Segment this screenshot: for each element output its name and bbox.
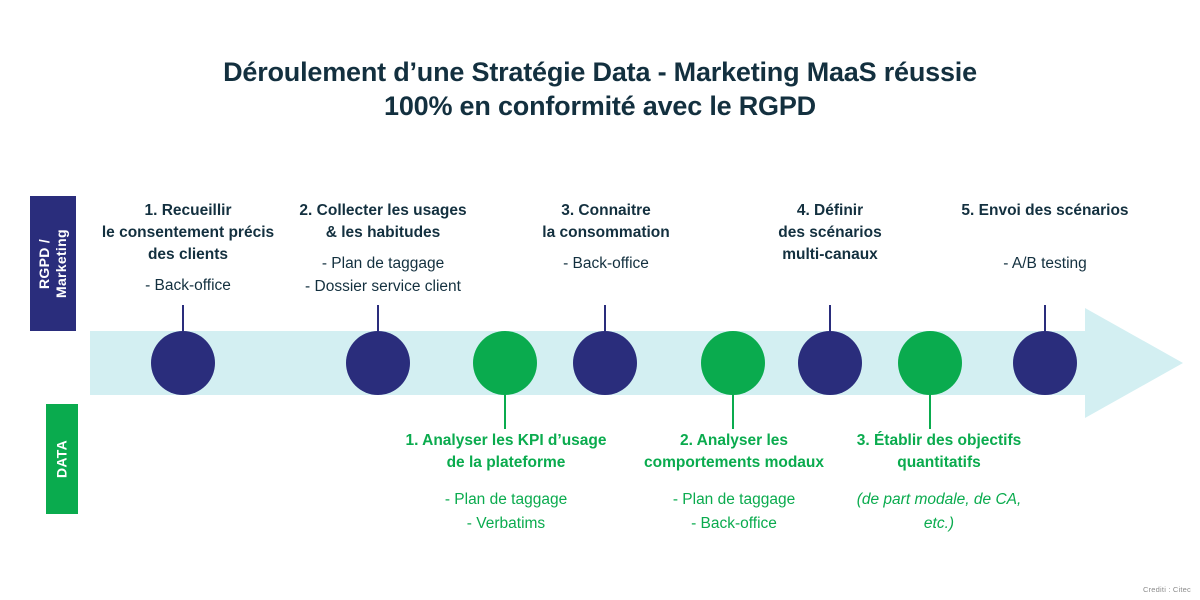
timeline-node-1-blue[interactable] bbox=[151, 331, 215, 395]
data-step-1-detail-line-2: - Verbatims bbox=[390, 512, 622, 536]
data-step-1-heading: 1. Analyser les KPI d’usagede la platefo… bbox=[390, 430, 622, 474]
side-label-data: DATA bbox=[46, 404, 78, 514]
data-step-2-heading-line-1: 2. Analyser les bbox=[630, 430, 838, 452]
side-label-rgpd-text: RGPD /Marketing bbox=[36, 229, 70, 298]
data-step-3-heading: 3. Établir des objectifsquantitatifs bbox=[840, 430, 1038, 474]
timeline-connector-3 bbox=[504, 395, 506, 429]
rgpd-step-1-heading-line-1: 1. Recueillir bbox=[78, 200, 298, 222]
timeline-node-7-green[interactable] bbox=[898, 331, 962, 395]
rgpd-step-2-details: - Plan de taggage- Dossier service clien… bbox=[272, 252, 494, 298]
timeline-node-2-blue[interactable] bbox=[346, 331, 410, 395]
timeline-node-6-blue[interactable] bbox=[798, 331, 862, 395]
timeline-connector-4 bbox=[604, 305, 606, 331]
rgpd-step-5: 5. Envoi des scénarios - A/B testing bbox=[930, 200, 1160, 275]
data-step-3-heading-line-1: 3. Établir des objectifs bbox=[840, 430, 1038, 452]
rgpd-step-3-detail-line-1: - Back-office bbox=[500, 252, 712, 275]
rgpd-step-2-heading: 2. Collecter les usages& les habitudes bbox=[272, 200, 494, 244]
data-step-1-heading-line-1: 1. Analyser les KPI d’usage bbox=[390, 430, 622, 452]
rgpd-step-2-detail-line-2: - Dossier service client bbox=[272, 275, 494, 298]
rgpd-step-1-heading-line-2: le consentement précis bbox=[78, 222, 298, 244]
timeline-node-4-blue[interactable] bbox=[573, 331, 637, 395]
rgpd-step-5-detail-line-1: - A/B testing bbox=[930, 252, 1160, 275]
side-label-data-text: DATA bbox=[54, 440, 71, 478]
data-step-2-detail-line-2: - Back-office bbox=[630, 512, 838, 536]
rgpd-step-5-heading-line-1: 5. Envoi des scénarios bbox=[930, 200, 1160, 222]
rgpd-step-5-details: - A/B testing bbox=[930, 252, 1160, 275]
data-step-3-heading-line-2: quantitatifs bbox=[840, 452, 1038, 474]
infographic-canvas: Déroulement d’une Stratégie Data - Marke… bbox=[0, 0, 1200, 600]
timeline-connector-5 bbox=[732, 395, 734, 429]
rgpd-step-3-heading: 3. Connaitrela consommation bbox=[500, 200, 712, 244]
data-step-2-detail-line-1: - Plan de taggage bbox=[630, 488, 838, 512]
title-line-1: Déroulement d’une Stratégie Data - Marke… bbox=[223, 57, 977, 87]
rgpd-step-2-heading-line-1: 2. Collecter les usages bbox=[272, 200, 494, 222]
rgpd-step-4-heading-line-1: 4. Définir bbox=[730, 200, 930, 222]
page-title: Déroulement d’une Stratégie Data - Marke… bbox=[0, 55, 1200, 123]
timeline-connector-1 bbox=[182, 305, 184, 331]
data-step-3: 3. Établir des objectifsquantitatifs (de… bbox=[840, 430, 1038, 536]
data-step-1: 1. Analyser les KPI d’usagede la platefo… bbox=[390, 430, 622, 536]
rgpd-step-4-heading-line-2: des scénarios bbox=[730, 222, 930, 244]
data-step-2-heading: 2. Analyser lescomportements modaux bbox=[630, 430, 838, 474]
timeline-connector-2 bbox=[377, 305, 379, 331]
timeline-node-8-blue[interactable] bbox=[1013, 331, 1077, 395]
data-step-3-detail-line-1: (de part modale, de CA, bbox=[840, 488, 1038, 512]
rgpd-step-4: 4. Définirdes scénariosmulti-canaux bbox=[730, 200, 930, 274]
rgpd-step-3-heading-line-1: 3. Connaitre bbox=[500, 200, 712, 222]
timeline-connector-8 bbox=[1044, 305, 1046, 331]
credit-text: Crediti : Citec bbox=[1143, 585, 1191, 594]
rgpd-step-1-detail-line-1: - Back-office bbox=[78, 274, 298, 297]
rgpd-step-3: 3. Connaitrela consommation - Back-offic… bbox=[500, 200, 712, 275]
data-step-1-heading-line-2: de la plateforme bbox=[390, 452, 622, 474]
rgpd-step-2-heading-line-2: & les habitudes bbox=[272, 222, 494, 244]
timeline-connector-7 bbox=[929, 395, 931, 429]
rgpd-step-5-heading: 5. Envoi des scénarios bbox=[930, 200, 1160, 222]
timeline-arrowhead-icon bbox=[1085, 308, 1183, 418]
data-step-3-details: (de part modale, de CA,etc.) bbox=[840, 488, 1038, 536]
title-line-2: 100% en conformité avec le RGPD bbox=[0, 89, 1200, 123]
data-step-3-detail-line-2: etc.) bbox=[840, 512, 1038, 536]
rgpd-step-1: 1. Recueillirle consentement précisdes c… bbox=[78, 200, 298, 297]
data-step-2-details: - Plan de taggage- Back-office bbox=[630, 488, 838, 536]
data-step-2-heading-line-2: comportements modaux bbox=[630, 452, 838, 474]
rgpd-step-1-heading: 1. Recueillirle consentement précisdes c… bbox=[78, 200, 298, 266]
rgpd-step-1-details: - Back-office bbox=[78, 274, 298, 297]
data-step-2: 2. Analyser lescomportements modaux - Pl… bbox=[630, 430, 838, 536]
rgpd-step-2-detail-line-1: - Plan de taggage bbox=[272, 252, 494, 275]
timeline-node-5-green[interactable] bbox=[701, 331, 765, 395]
data-step-1-detail-line-1: - Plan de taggage bbox=[390, 488, 622, 512]
rgpd-step-2: 2. Collecter les usages& les habitudes -… bbox=[272, 200, 494, 298]
rgpd-step-3-details: - Back-office bbox=[500, 252, 712, 275]
rgpd-step-4-heading: 4. Définirdes scénariosmulti-canaux bbox=[730, 200, 930, 266]
rgpd-step-4-heading-line-3: multi-canaux bbox=[730, 244, 930, 266]
timeline-node-3-green[interactable] bbox=[473, 331, 537, 395]
side-label-rgpd-marketing: RGPD /Marketing bbox=[30, 196, 76, 331]
rgpd-step-3-heading-line-2: la consommation bbox=[500, 222, 712, 244]
data-step-1-details: - Plan de taggage- Verbatims bbox=[390, 488, 622, 536]
rgpd-step-1-heading-line-3: des clients bbox=[78, 244, 298, 266]
timeline-connector-6 bbox=[829, 305, 831, 331]
